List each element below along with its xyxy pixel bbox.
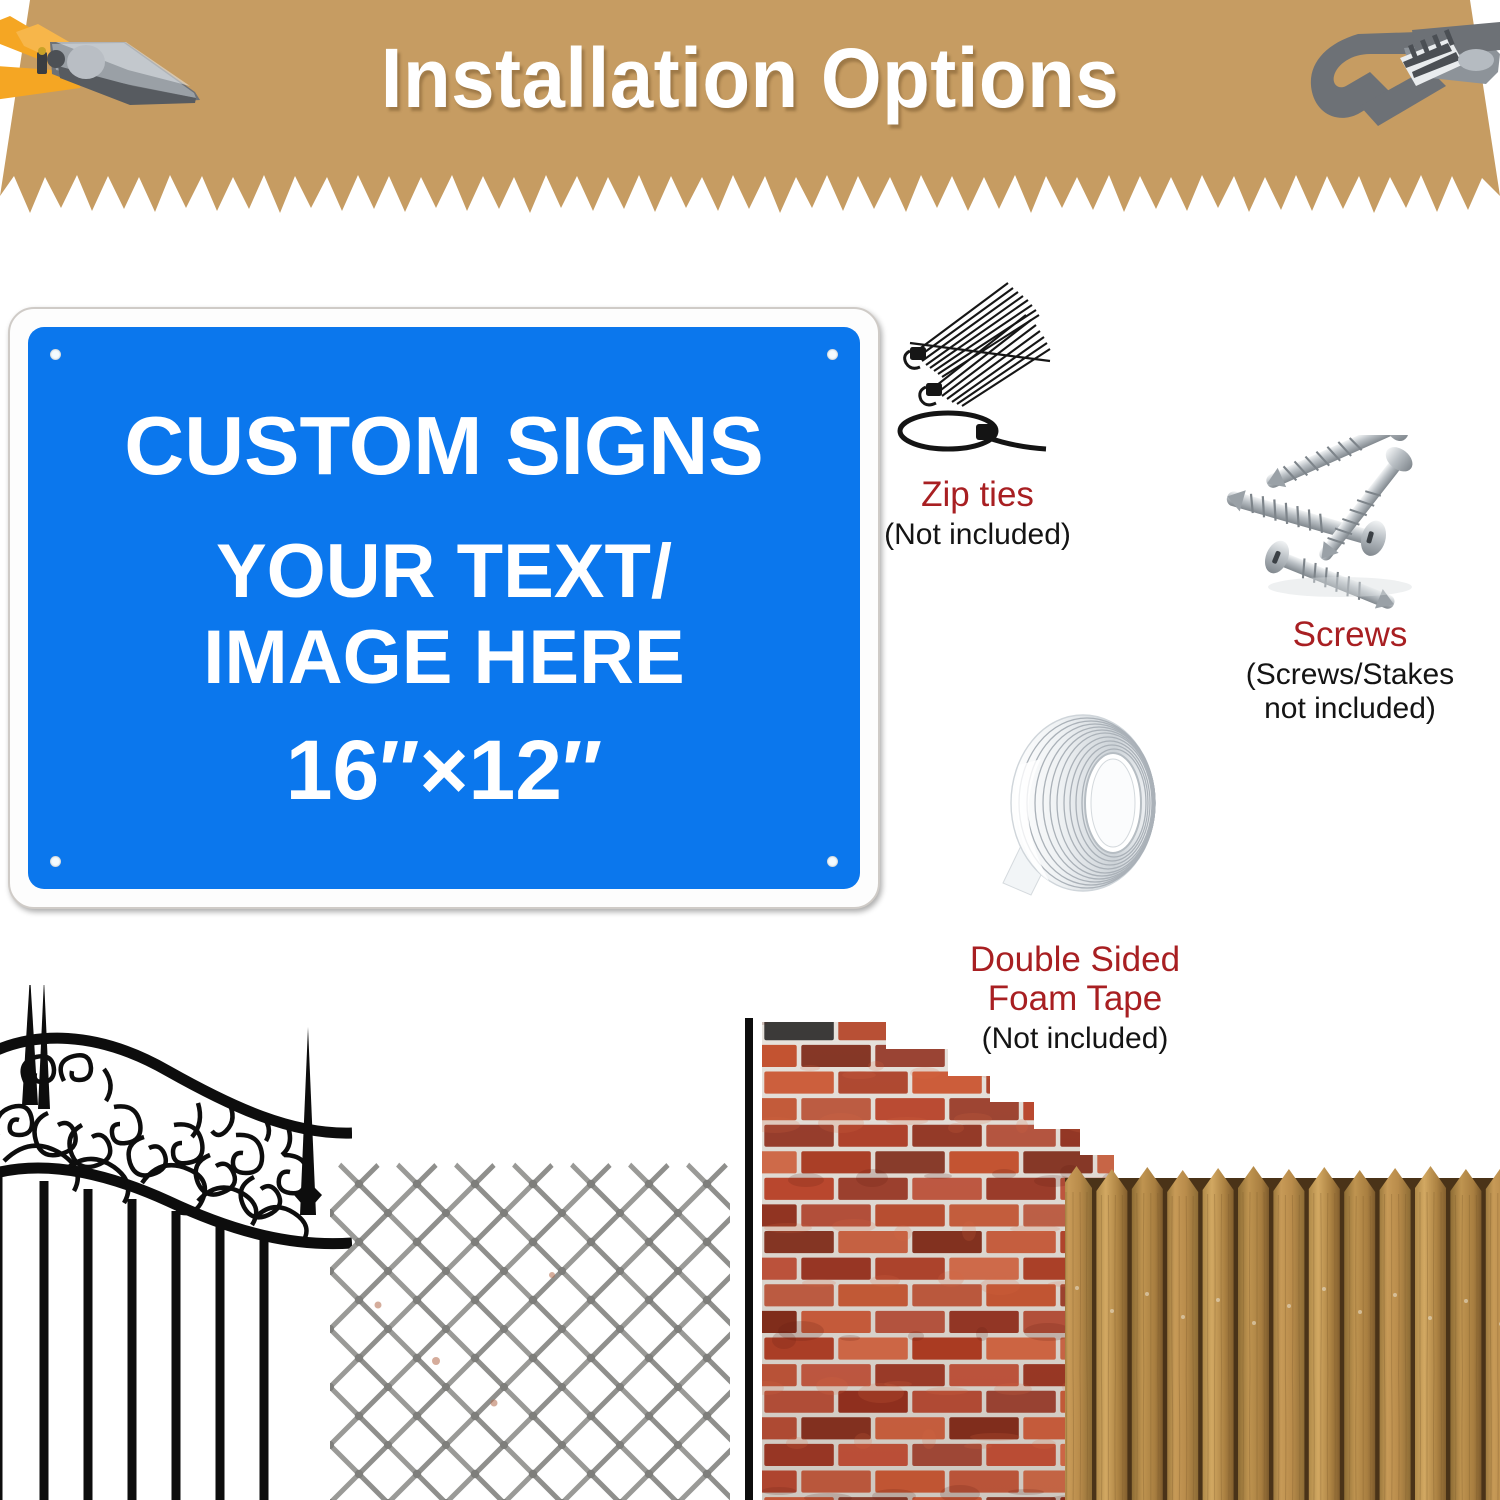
sign-text-block: CUSTOM SIGNS YOUR TEXT/ IMAGE HERE 16″×1… <box>28 327 860 889</box>
wire-cutter-pliers-icon <box>0 8 205 168</box>
accessory-zip-ties-label: Zip ties (Not included) <box>870 475 1085 552</box>
wooden-picket-fence-icon <box>1065 1158 1500 1500</box>
screws-icon <box>1220 435 1470 610</box>
screws-note: (Screws/Stakes not included) <box>1215 658 1485 725</box>
screws-title: Screws <box>1215 615 1485 654</box>
sign-line-3: IMAGE HERE <box>203 615 684 700</box>
banner-shape <box>0 0 1500 225</box>
sign-face: CUSTOM SIGNS YOUR TEXT/ IMAGE HERE 16″×1… <box>28 327 860 889</box>
accessory-screws-label: Screws (Screws/Stakes not included) <box>1215 615 1485 725</box>
zip-ties-icon <box>880 265 1080 465</box>
foam-tape-title: Double Sided Foam Tape <box>950 940 1200 1018</box>
zip-ties-title: Zip ties <box>870 475 1085 514</box>
custom-sign-preview: CUSTOM SIGNS YOUR TEXT/ IMAGE HERE 16″×1… <box>8 307 880 909</box>
adjustable-wrench-icon <box>1300 10 1500 170</box>
sign-line-2: YOUR TEXT/ <box>216 529 672 614</box>
sign-size-label: 16″×12″ <box>286 728 602 812</box>
chain-link-fence-icon <box>330 1155 730 1500</box>
infographic-page: Installation Options CUSTOM SIGNS YOUR T… <box>0 0 1500 1500</box>
foam-tape-roll-icon <box>975 695 1180 930</box>
wrought-iron-gate-icon <box>0 985 352 1500</box>
sign-headline: CUSTOM SIGNS <box>124 404 763 487</box>
zip-ties-note: (Not included) <box>870 518 1085 552</box>
section-divider <box>745 1018 753 1500</box>
header-banner: Installation Options <box>0 0 1500 225</box>
